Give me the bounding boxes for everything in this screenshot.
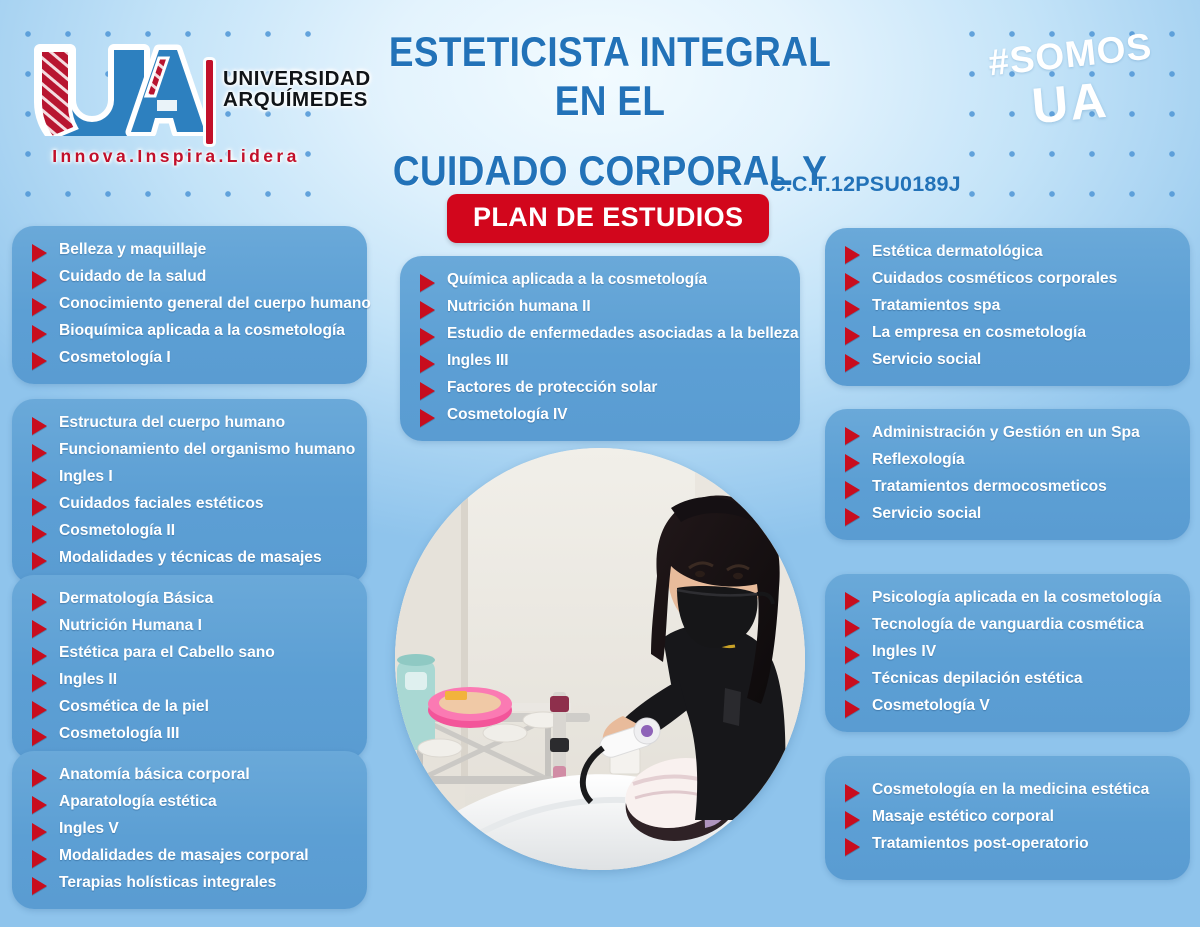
arrow-right-icon [420, 328, 435, 346]
arrow-right-icon [32, 525, 47, 543]
course-item: Cosmetología II [32, 521, 349, 543]
arrow-right-icon [845, 811, 860, 829]
course-box-cuatrimestre-8: Psicología aplicada en la cosmetología T… [825, 574, 1190, 732]
course-box-cuatrimestre-2: Estructura del cuerpo humano Funcionamie… [12, 399, 367, 584]
arrow-right-icon [32, 877, 47, 895]
arrow-right-icon [845, 646, 860, 664]
course-label: Funcionamiento del organismo humano [59, 440, 355, 460]
arrow-right-icon [845, 427, 860, 445]
course-item: Cuidados cosméticos corporales [845, 269, 1172, 291]
course-item: Cosmetología III [32, 724, 349, 746]
arrow-right-icon [420, 382, 435, 400]
arrow-right-icon [420, 274, 435, 292]
arrow-right-icon [420, 355, 435, 373]
course-label: Reflexología [872, 450, 965, 470]
course-label: Estructura del cuerpo humano [59, 413, 285, 433]
logo-tagline: Innova.Inspira.Lidera [36, 146, 316, 167]
course-item: Tratamientos post-operatorio [845, 834, 1172, 856]
course-label: Dermatología Básica [59, 589, 213, 609]
course-item: Conocimiento general del cuerpo humano [32, 294, 349, 316]
course-label: Técnicas depilación estética [872, 669, 1083, 689]
course-label: Estética dermatológica [872, 242, 1043, 262]
arrow-right-icon [420, 409, 435, 427]
course-item: Cosmetología I [32, 348, 349, 370]
course-item: Tratamientos dermocosmeticos [845, 477, 1172, 499]
course-item: Terapias holísticas integrales [32, 873, 349, 895]
course-label: Modalidades de masajes corporal [59, 846, 309, 866]
arrow-right-icon [845, 592, 860, 610]
course-item: La empresa en cosmetología [845, 323, 1172, 345]
course-item: Cuidados faciales estéticos [32, 494, 349, 516]
logo-divider [206, 60, 213, 144]
course-item: Cosmetología V [845, 696, 1172, 718]
course-item: Estructura del cuerpo humano [32, 413, 349, 435]
course-item: Servicio social [845, 504, 1172, 526]
course-label: Ingles II [59, 670, 117, 690]
course-box-cuatrimestre-4: Anatomía básica corporal Aparatología es… [12, 751, 367, 909]
arrow-right-icon [32, 471, 47, 489]
course-box-cuatrimestre-5: Química aplicada a la cosmetología Nutri… [400, 256, 800, 441]
course-label: Estudio de enfermedades asociadas a la b… [447, 324, 799, 344]
course-item: Técnicas depilación estética [845, 669, 1172, 691]
arrow-right-icon [845, 784, 860, 802]
course-item: Bioquímica aplicada a la cosmetología [32, 321, 349, 343]
arrow-right-icon [32, 444, 47, 462]
ua-monogram-icon [28, 44, 208, 136]
plan-de-estudios-badge: PLAN DE ESTUDIOS [447, 194, 769, 243]
course-box-cuatrimestre-7: Administración y Gestión en un Spa Refle… [825, 409, 1190, 540]
course-label: Tratamientos dermocosmeticos [872, 477, 1107, 497]
course-label: Cuidados faciales estéticos [59, 494, 264, 514]
course-label: Bioquímica aplicada a la cosmetología [59, 321, 345, 341]
arrow-right-icon [32, 620, 47, 638]
somos-ua-watermark: #SOMOS UA [970, 34, 1170, 164]
arrow-right-icon [32, 728, 47, 746]
course-label: Cosmetología II [59, 521, 175, 541]
course-label: Tratamientos post-operatorio [872, 834, 1089, 854]
course-item: Cosmetología IV [420, 405, 782, 427]
course-label: Cosmetología en la medicina estética [872, 780, 1149, 800]
course-item: Modalidades de masajes corporal [32, 846, 349, 868]
arrow-right-icon [32, 298, 47, 316]
course-label: Nutrición humana II [447, 297, 591, 317]
course-label: Psicología aplicada en la cosmetología [872, 588, 1161, 608]
course-item: Estética dermatológica [845, 242, 1172, 264]
course-item: Tratamientos spa [845, 296, 1172, 318]
course-label: Ingles IV [872, 642, 936, 662]
course-item: Ingles III [420, 351, 782, 373]
arrow-right-icon [845, 300, 860, 318]
course-item: Nutrición Humana I [32, 616, 349, 638]
course-label: Modalidades y técnicas de masajes [59, 548, 322, 568]
arrow-right-icon [32, 796, 47, 814]
logo-name-line1: UNIVERSIDAD [223, 68, 371, 89]
arrow-right-icon [845, 508, 860, 526]
arrow-right-icon [845, 273, 860, 291]
course-label: Administración y Gestión en un Spa [872, 423, 1140, 443]
course-label: Cuidados cosméticos corporales [872, 269, 1117, 289]
arrow-right-icon [32, 244, 47, 262]
arrow-right-icon [32, 325, 47, 343]
arrow-right-icon [32, 823, 47, 841]
logo-name-line2: ARQUÍMEDES [223, 89, 371, 110]
arrow-right-icon [32, 701, 47, 719]
course-box-cuatrimestre-6: Estética dermatológica Cuidados cosmétic… [825, 228, 1190, 386]
arrow-right-icon [32, 498, 47, 516]
poster-root: UNIVERSIDAD ARQUÍMEDES Innova.Inspira.Li… [0, 0, 1200, 927]
logo-wordmark: UNIVERSIDAD ARQUÍMEDES [223, 68, 371, 111]
course-item: Dermatología Básica [32, 589, 349, 611]
treatment-photo [395, 448, 805, 870]
arrow-right-icon [32, 674, 47, 692]
arrow-right-icon [845, 619, 860, 637]
course-label: Ingles I [59, 467, 113, 487]
course-label: Estética para el Cabello sano [59, 643, 275, 663]
course-item: Psicología aplicada en la cosmetología [845, 588, 1172, 610]
course-label: Cosmética de la piel [59, 697, 209, 717]
arrow-right-icon [845, 327, 860, 345]
arrow-right-icon [845, 838, 860, 856]
course-label: Belleza y maquillaje [59, 240, 206, 260]
course-label: Cosmetología IV [447, 405, 568, 425]
cct-code: C.C.T.12PSU0189J [770, 172, 961, 197]
course-item: Modalidades y técnicas de masajes [32, 548, 349, 570]
arrow-right-icon [32, 647, 47, 665]
course-item: Ingles IV [845, 642, 1172, 664]
course-label: Terapias holísticas integrales [59, 873, 276, 893]
course-label: Cosmetología I [59, 348, 171, 368]
course-item: Química aplicada a la cosmetología [420, 270, 782, 292]
course-item: Cosmética de la piel [32, 697, 349, 719]
course-label: Servicio social [872, 350, 981, 370]
course-box-cuatrimestre-1: Belleza y maquillaje Cuidado de la salud… [12, 226, 367, 384]
arrow-right-icon [32, 769, 47, 787]
arrow-right-icon [32, 552, 47, 570]
course-item: Belleza y maquillaje [32, 240, 349, 262]
course-item: Aparatología estética [32, 792, 349, 814]
course-item: Nutrición humana II [420, 297, 782, 319]
course-item: Reflexología [845, 450, 1172, 472]
arrow-right-icon [32, 352, 47, 370]
course-box-cuatrimestre-9: Cosmetología en la medicina estética Mas… [825, 756, 1190, 880]
course-label: Anatomía básica corporal [59, 765, 250, 785]
course-item: Anatomía básica corporal [32, 765, 349, 787]
course-item: Ingles I [32, 467, 349, 489]
course-label: Tecnología de vanguardia cosmética [872, 615, 1144, 635]
course-item: Estudio de enfermedades asociadas a la b… [420, 324, 782, 346]
course-item: Administración y Gestión en un Spa [845, 423, 1172, 445]
arrow-right-icon [32, 271, 47, 289]
arrow-right-icon [845, 354, 860, 372]
course-label: Tratamientos spa [872, 296, 1000, 316]
course-item: Cosmetología en la medicina estética [845, 780, 1172, 802]
course-label: Ingles III [447, 351, 509, 371]
course-item: Funcionamiento del organismo humano [32, 440, 349, 462]
arrow-right-icon [32, 417, 47, 435]
course-label: Servicio social [872, 504, 981, 524]
course-item: Servicio social [845, 350, 1172, 372]
course-item: Ingles V [32, 819, 349, 841]
arrow-right-icon [845, 481, 860, 499]
course-item: Estética para el Cabello sano [32, 643, 349, 665]
course-label: Cosmetología V [872, 696, 990, 716]
course-item: Factores de protección solar [420, 378, 782, 400]
course-box-cuatrimestre-3: Dermatología Básica Nutrición Humana I E… [12, 575, 367, 760]
arrow-right-icon [420, 301, 435, 319]
course-label: Ingles V [59, 819, 119, 839]
course-label: Masaje estético corporal [872, 807, 1054, 827]
course-item: Ingles II [32, 670, 349, 692]
course-label: Cuidado de la salud [59, 267, 206, 287]
arrow-right-icon [845, 454, 860, 472]
university-logo: UNIVERSIDAD ARQUÍMEDES Innova.Inspira.Li… [28, 44, 318, 174]
title-line-1: ESTETICISTA INTEGRAL EN EL [389, 28, 831, 124]
arrow-right-icon [845, 700, 860, 718]
course-label: Cosmetología III [59, 724, 179, 744]
course-item: Tecnología de vanguardia cosmética [845, 615, 1172, 637]
course-label: Aparatología estética [59, 792, 217, 812]
course-label: Factores de protección solar [447, 378, 657, 398]
course-label: Química aplicada a la cosmetología [447, 270, 707, 290]
course-item: Masaje estético corporal [845, 807, 1172, 829]
arrow-right-icon [32, 850, 47, 868]
arrow-right-icon [32, 593, 47, 611]
course-label: Conocimiento general del cuerpo humano [59, 294, 371, 314]
course-label: Nutrición Humana I [59, 616, 202, 636]
course-label: La empresa en cosmetología [872, 323, 1086, 343]
course-item: Cuidado de la salud [32, 267, 349, 289]
arrow-right-icon [845, 246, 860, 264]
arrow-right-icon [845, 673, 860, 691]
